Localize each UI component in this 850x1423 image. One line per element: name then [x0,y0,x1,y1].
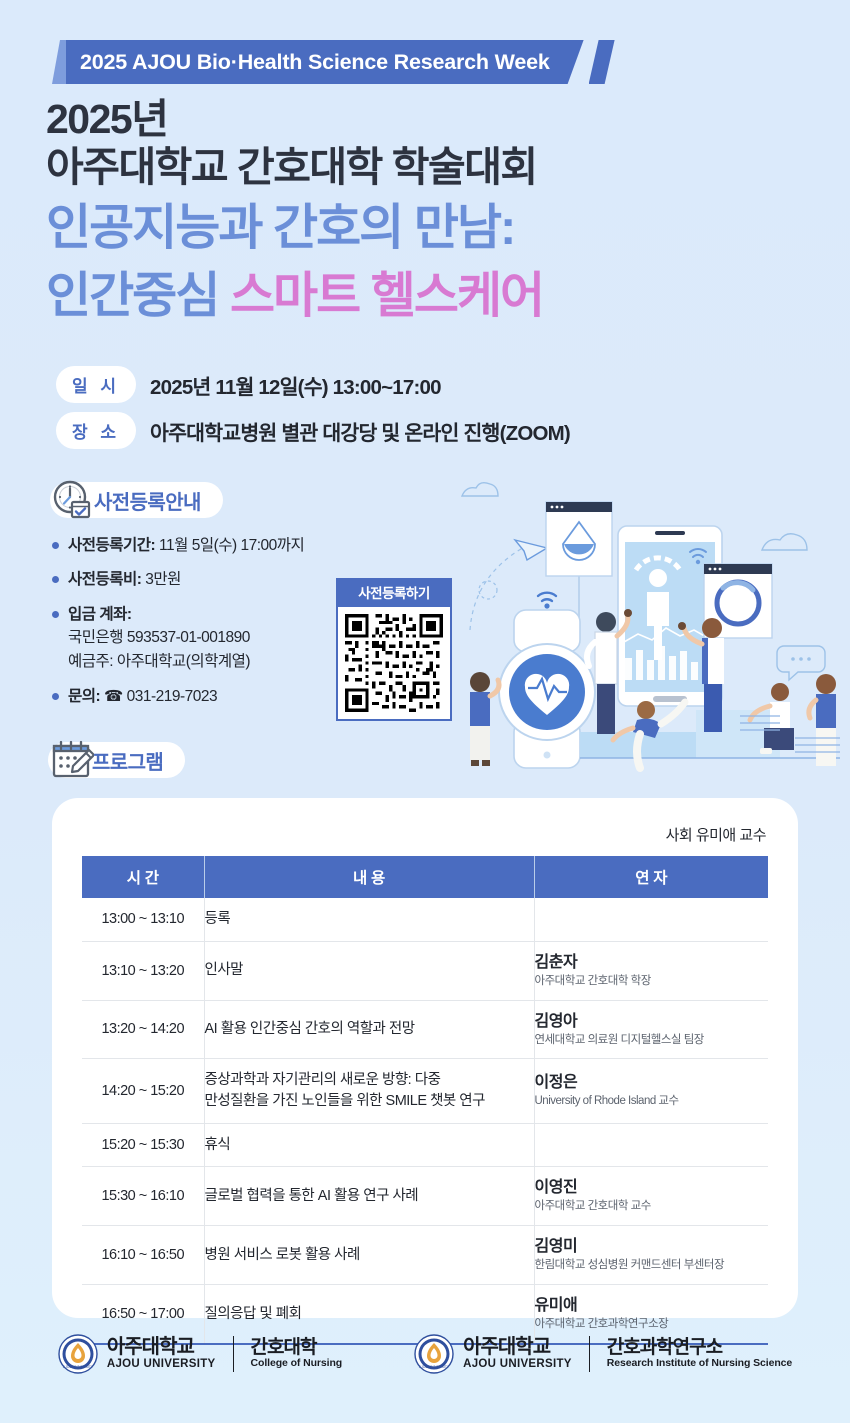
registration-account-detail: 국민은행 593537-01-001890 예금주: 아주대학교(의학계열) [68,626,250,674]
row-speaker-cell: 김영미 한림대학교 성심병원 커맨드센터 부센터장 [534,1226,768,1285]
title-year: 2025년 [46,96,606,144]
row-speaker-name: 김영아 [535,1012,769,1032]
title-subject: 아주대학교 간호대학 학술대회 [46,144,606,192]
row-time: 15:30 ~ 16:10 [82,1167,204,1226]
qr-code-icon[interactable] [345,614,443,712]
column-header-time: 시 간 [82,856,204,898]
row-speaker-affiliation: 연세대학교 의료원 디지털헬스실 팀장 [535,1033,769,1048]
registration-item: 사전등록비: 3만원 [52,568,382,591]
info-place-value: 아주대학교병원 별관 대강당 및 온라인 진행(ZOOM) [150,416,570,446]
ajou-seal-icon: AJOU UNIVERSITY [58,1334,98,1374]
chat-bubble-icon [777,646,825,680]
registration-item-value: 11월 5일(수) 17:00까지 [155,537,304,554]
info-date-value: 2025년 11월 12일(수) 13:00~17:00 [150,370,441,400]
poster-root: 2025 AJOU Bio·Health Science Research We… [0,0,850,1423]
row-speaker-cell: 김춘자 아주대학교 간호대학 학장 [534,941,768,1000]
registration-item-text: 사전등록비: 3만원 [68,568,181,591]
table-row: 15:20 ~ 15:30 휴식 [82,1123,768,1167]
cloud-icon [462,483,498,496]
registration-item-label: 사전등록기간: [68,537,155,554]
info-date-row: 일 시 2025년 11월 12일(수) 13:00~17:00 [56,366,441,403]
registration-item-text: 입금 계좌: 국민은행 593537-01-001890 예금주: 아주대학교(… [68,603,250,674]
ribbon-title: 2025 AJOU Bio·Health Science Research We… [66,40,584,84]
bullet-icon [52,693,59,700]
info-place-row: 장 소 아주대학교병원 별관 대강당 및 온라인 진행(ZOOM) [56,412,570,449]
svg-text:AJOU UNIVERSITY: AJOU UNIVERSITY [63,1365,94,1369]
calendar-pencil-icon [48,738,94,782]
table-row: 13:10 ~ 13:20 인사말 김춘자 아주대학교 간호대학 학장 [82,941,768,1000]
column-header-speaker: 연 자 [534,856,768,898]
row-time: 13:20 ~ 14:20 [82,1000,204,1059]
registration-list: 사전등록기간: 11월 5일(수) 17:00까지 사전등록비: 3만원 입금 … [52,534,382,719]
logo-unit-ko: 간호과학연구소 [607,1338,792,1358]
qr-register-block[interactable]: 사전등록하기 [336,578,452,721]
logo-university-en: AJOU UNIVERSITY [107,1358,216,1371]
row-speaker-affiliation: 한림대학교 성심병원 커맨드센터 부센터장 [535,1258,769,1273]
row-speaker-affiliation: University of Rhode Island 교수 [535,1094,769,1109]
logo-divider [589,1336,590,1372]
row-speaker-cell: 이영진 아주대학교 간호대학 교수 [534,1167,768,1226]
row-time: 15:20 ~ 15:30 [82,1123,204,1167]
logo-unit-ko: 간호대학 [251,1338,343,1358]
logo-university-ko: 아주대학교 [463,1337,572,1358]
row-speaker-cell [534,1123,768,1167]
title-theme-blue: 인간중심 [46,269,218,323]
row-speaker-affiliation: 아주대학교 간호대학 학장 [535,974,769,989]
info-date-label: 일 시 [56,366,136,403]
row-speaker-name: 김영미 [535,1237,769,1257]
row-topic: 증상과학과 자기관리의 새로운 방향: 다중 만성질환을 가진 노인들을 위한 … [204,1059,534,1123]
logo-divider [233,1336,234,1372]
logo-university-name: 아주대학교 AJOU UNIVERSITY [107,1337,216,1371]
row-topic: AI 활용 인간중심 간호의 역할과 전망 [204,1000,534,1059]
row-speaker-affiliation: 아주대학교 간호대학 교수 [535,1199,769,1214]
logo-university-ko: 아주대학교 [107,1337,216,1358]
program-table: 시 간 내 용 연 자 13:00 ~ 13:10 등록 13:10 ~ 13:… [82,856,768,1345]
row-speaker-cell: 김영아 연세대학교 의료원 디지털헬스실 팀장 [534,1000,768,1059]
program-card: 사회 유미애 교수 시 간 내 용 연 자 13:00 ~ 13:10 등록 [52,798,798,1318]
row-topic: 병원 서비스 로봇 활용 사례 [204,1226,534,1285]
table-row: 13:20 ~ 14:20 AI 활용 인간중심 간호의 역할과 전망 김영아 … [82,1000,768,1059]
bullet-icon [52,576,59,583]
row-speaker-name: 이정은 [535,1073,769,1093]
row-topic: 인사말 [204,941,534,1000]
clock-check-icon [50,478,96,522]
bullet-icon [52,542,59,549]
row-time: 13:00 ~ 13:10 [82,898,204,941]
logo-unit-name: 간호대학 College of Nursing [251,1338,343,1369]
logo-unit-en: College of Nursing [251,1358,343,1370]
info-place-label: 장 소 [56,412,136,449]
registration-item-label: 문의: [68,688,100,705]
row-topic: 휴식 [204,1123,534,1167]
registration-contact-value: ☎ 031-219-7023 [100,688,217,705]
header-ribbon: 2025 AJOU Bio·Health Science Research We… [52,40,615,84]
person-left [470,672,499,766]
table-row: 14:20 ~ 15:20 증상과학과 자기관리의 새로운 방향: 다중 만성질… [82,1059,768,1123]
moderator-label: 사회 유미애 교수 [666,824,766,845]
registration-item: 사전등록기간: 11월 5일(수) 17:00까지 [52,534,382,557]
cloud-icon [762,534,807,550]
ribbon-left-edge [52,40,66,84]
row-speaker-name: 김춘자 [535,953,769,973]
row-time: 13:10 ~ 13:20 [82,941,204,1000]
row-speaker-cell [534,898,768,941]
registration-item-label: 사전등록비: [68,571,141,588]
program-table-body: 13:00 ~ 13:10 등록 13:10 ~ 13:20 인사말 김춘자 아… [82,898,768,1344]
registration-item-label: 입금 계좌: [68,606,132,623]
wifi-icon [538,593,556,601]
registration-item-text: 사전등록기간: 11월 5일(수) 17:00까지 [68,534,304,557]
digital-health-illustration [440,470,850,790]
logo-college-of-nursing: AJOU UNIVERSITY 아주대학교 AJOU UNIVERSITY 간호… [58,1334,342,1374]
row-topic: 등록 [204,898,534,941]
program-table-header-row: 시 간 내 용 연 자 [82,856,768,898]
registration-item: 입금 계좌: 국민은행 593537-01-001890 예금주: 아주대학교(… [52,603,382,674]
title-theme-pink: 스마트 헬스케어 [230,269,543,323]
qr-label: 사전등록하기 [336,578,452,607]
bullet-icon [52,611,59,618]
footer-logos: AJOU UNIVERSITY 아주대학교 AJOU UNIVERSITY 간호… [0,1334,850,1374]
svg-text:AJOU UNIVERSITY: AJOU UNIVERSITY [419,1365,450,1369]
ribbon-tail [589,40,615,84]
row-time: 16:10 ~ 16:50 [82,1226,204,1285]
row-speaker-affiliation: 아주대학교 간호과학연구소장 [535,1317,769,1332]
program-section-badge: 프로그램 [48,742,185,778]
row-speaker-name: 이영진 [535,1178,769,1198]
title-theme-line1: 인공지능과 간호의 만남: [46,199,606,259]
row-speaker-cell: 이정은 University of Rhode Island 교수 [534,1059,768,1123]
row-speaker-name: 유미애 [535,1296,769,1316]
table-row: 15:30 ~ 16:10 글로벌 협력을 통한 AI 활용 연구 사례 이영진… [82,1167,768,1226]
registration-item: 문의: ☎ 031-219-7023 [52,685,382,708]
column-header-topic: 내 용 [204,856,534,898]
row-topic: 글로벌 협력을 통한 AI 활용 연구 사례 [204,1167,534,1226]
logo-unit-en: Research Institute of Nursing Science [607,1358,792,1370]
table-row: 16:10 ~ 16:50 병원 서비스 로봇 활용 사례 김영미 한림대학교 … [82,1226,768,1285]
row-time: 14:20 ~ 15:20 [82,1059,204,1123]
logo-university-name: 아주대학교 AJOU UNIVERSITY [463,1337,572,1371]
registration-item-text: 문의: ☎ 031-219-7023 [68,685,217,708]
title-theme-line2: 인간중심 스마트 헬스케어 [46,267,606,327]
table-row: 13:00 ~ 13:10 등록 [82,898,768,941]
logo-university-en: AJOU UNIVERSITY [463,1358,572,1371]
logo-research-institute: AJOU UNIVERSITY 아주대학교 AJOU UNIVERSITY 간호… [414,1334,792,1374]
title-block: 2025년 아주대학교 간호대학 학술대회 인공지능과 간호의 만남: 인간중심… [46,96,606,327]
registration-section-badge: 사전등록안내 [50,482,223,518]
qr-frame [336,607,452,721]
registration-item-value: 3만원 [141,571,180,588]
logo-unit-name: 간호과학연구소 Research Institute of Nursing Sc… [607,1338,792,1369]
ajou-seal-icon: AJOU UNIVERSITY [414,1334,454,1374]
